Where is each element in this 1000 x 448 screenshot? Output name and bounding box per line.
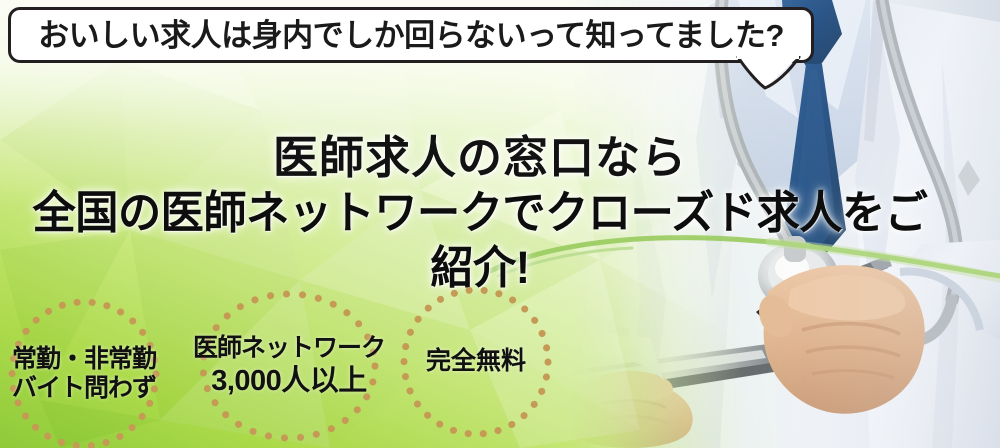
badge-free: 完全無料: [398, 284, 554, 440]
badge-label-line-1: 常勤・非常勤: [12, 345, 156, 375]
badge-label-line-1: 完全無料: [426, 347, 526, 377]
hero-banner: おいしい求人は身内でしか回らないって知ってました? 医師求人の窓口なら 全国の医…: [0, 0, 1000, 448]
doctor-photo: [570, 0, 1000, 448]
badge-label-line-1: 医師ネットワーク: [193, 334, 385, 364]
badge-label-line-2: 3,000人以上: [211, 364, 367, 398]
badge-employment-type: 常勤・非常勤 バイト問わず: [6, 296, 162, 448]
speech-bubble-text: おいしい求人は身内でしか回らないって知ってました?: [38, 20, 784, 51]
badge-label-line-2: バイト問わず: [12, 374, 156, 404]
badge-network-size: 医師ネットワーク 3,000人以上: [196, 288, 382, 444]
speech-bubble: おいしい求人は身内でしか回らないって知ってました?: [8, 7, 814, 63]
doctor-photo-fade-mask: [570, 0, 1000, 448]
